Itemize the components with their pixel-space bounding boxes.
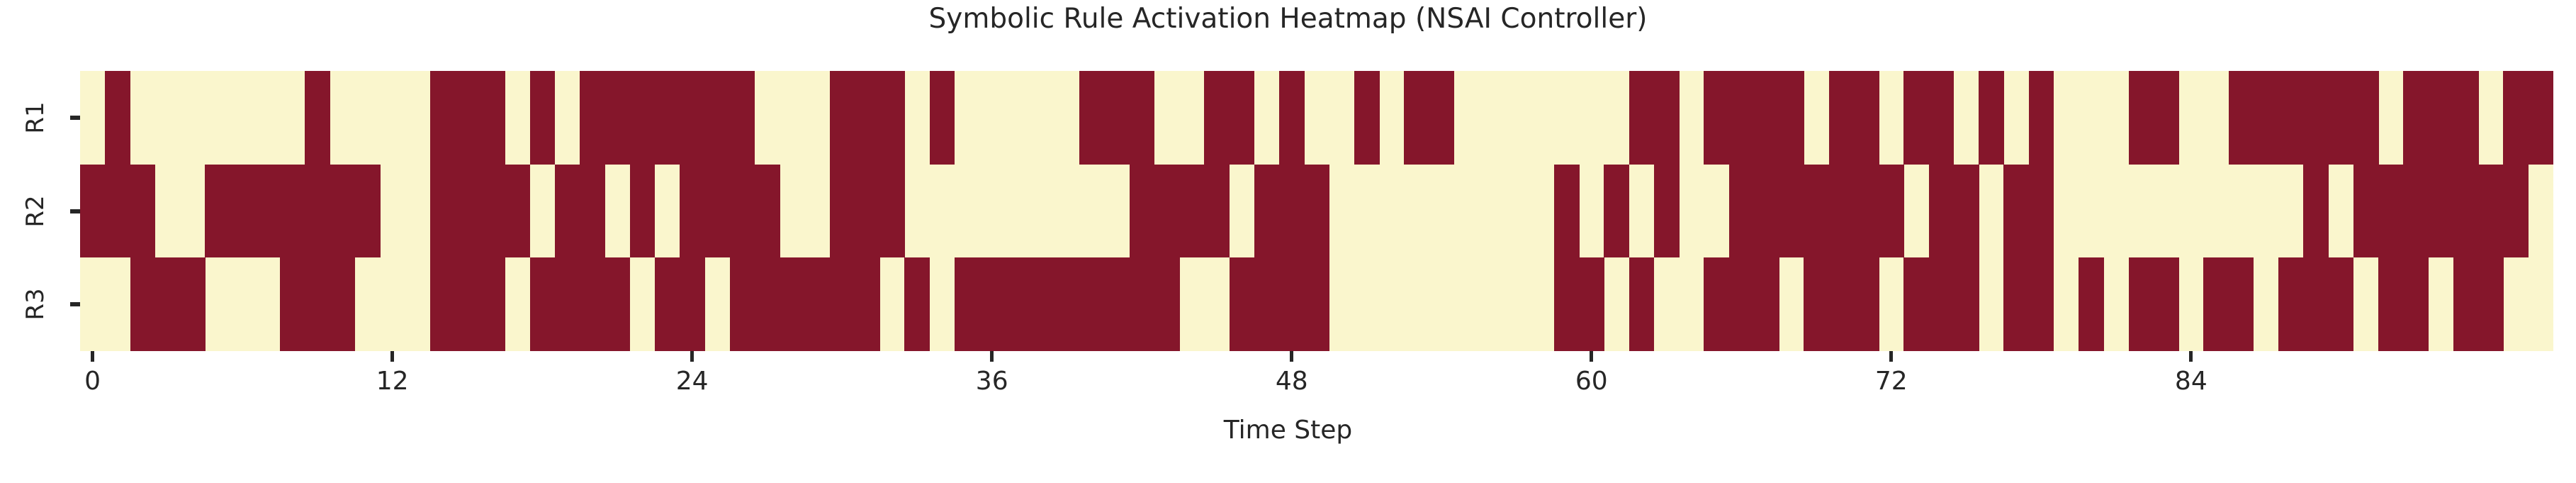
heatmap-cell <box>130 257 206 351</box>
x-tick-mark <box>1290 351 1293 362</box>
heatmap-cell <box>904 257 930 351</box>
x-tick-label-0: 0 <box>22 366 164 397</box>
y-tick-mark <box>70 209 80 213</box>
heatmap-cell <box>1804 257 1879 351</box>
heatmap-cell <box>530 257 631 351</box>
y-tick-mark <box>70 116 80 120</box>
heatmap-cell <box>555 165 605 258</box>
heatmap-cell <box>1204 71 1254 165</box>
heatmap-cell <box>2403 71 2478 165</box>
heatmap-cell <box>2203 257 2254 351</box>
heatmap-cell <box>1079 71 1154 165</box>
heatmap-cell <box>280 257 355 351</box>
heatmap-row-r1 <box>80 71 2553 165</box>
heatmap-cell <box>1230 257 1330 351</box>
heatmap-cell <box>630 165 656 258</box>
heatmap-cell <box>1254 165 1329 258</box>
heatmap-cell <box>430 257 505 351</box>
heatmap-cell <box>2229 71 2379 165</box>
heatmap-cell <box>205 165 380 258</box>
chart-title: Symbolic Rule Activation Heatmap (NSAI C… <box>0 3 2576 35</box>
heatmap-cell <box>1903 257 1979 351</box>
heatmap-cell <box>1704 71 1804 165</box>
figure-canvas: Symbolic Rule Activation Heatmap (NSAI C… <box>0 0 2576 483</box>
heatmap-row-r3 <box>80 257 2553 351</box>
heatmap-cell <box>1354 71 1380 165</box>
x-tick-label-24: 24 <box>621 366 763 397</box>
x-axis-title: Time Step <box>0 415 2576 446</box>
heatmap-cell <box>430 71 505 165</box>
heatmap-cell <box>2129 71 2179 165</box>
y-tick-label-r2: R2 <box>20 183 51 240</box>
heatmap-cell <box>1554 257 1604 351</box>
x-tick-label-12: 12 <box>322 366 463 397</box>
y-tick-label-r3: R3 <box>20 276 51 333</box>
heatmap-cell <box>430 165 531 258</box>
x-tick-label-84: 84 <box>2120 366 2262 397</box>
x-tick-mark <box>990 351 994 362</box>
x-tick-label-48: 48 <box>1221 366 1363 397</box>
heatmap-cell <box>830 165 905 258</box>
heatmap-cell <box>1554 165 1580 258</box>
heatmap-cell <box>1654 165 1680 258</box>
heatmap-cell <box>1903 71 1954 165</box>
heatmap-cell <box>2029 71 2054 165</box>
heatmap-cell <box>1130 165 1230 258</box>
heatmap-cell <box>2353 165 2529 258</box>
x-tick-label-60: 60 <box>1521 366 1663 397</box>
x-tick-mark <box>1590 351 1593 362</box>
heatmap-cell <box>2378 257 2429 351</box>
heatmap-cell <box>1279 71 1305 165</box>
heatmap-cell <box>2003 257 2054 351</box>
heatmap-cell <box>1929 165 1979 258</box>
x-tick-mark <box>91 351 94 362</box>
heatmap-cell <box>2303 165 2329 258</box>
heatmap-cell <box>730 257 880 351</box>
x-tick-label-72: 72 <box>1821 366 1962 397</box>
heatmap-cell <box>2503 71 2553 165</box>
heatmap-cell <box>680 165 780 258</box>
heatmap-cell <box>1629 257 1655 351</box>
heatmap-cell <box>930 71 955 165</box>
heatmap-cell <box>305 71 330 165</box>
heatmap-cell <box>2278 257 2353 351</box>
heatmap-cell <box>2453 257 2504 351</box>
heatmap-plot-area <box>80 71 2553 351</box>
x-tick-mark <box>390 351 394 362</box>
heatmap-cell <box>530 71 556 165</box>
heatmap-cell <box>105 71 130 165</box>
heatmap-cell <box>2079 257 2104 351</box>
heatmap-cell <box>2003 165 2054 258</box>
y-tick-mark <box>70 302 80 306</box>
heatmap-cell <box>655 257 705 351</box>
y-tick-label-r1: R1 <box>20 89 51 146</box>
x-tick-mark <box>2189 351 2193 362</box>
heatmap-cell <box>1979 71 2004 165</box>
heatmap-cell <box>1604 165 1629 258</box>
heatmap-cell <box>80 165 155 258</box>
heatmap-cell <box>1704 257 1779 351</box>
x-tick-mark <box>1889 351 1893 362</box>
heatmap-cell <box>2129 257 2179 351</box>
heatmap-cell <box>955 257 1180 351</box>
heatmap-cell <box>1404 71 1454 165</box>
heatmap-cell <box>1729 165 1904 258</box>
x-tick-mark <box>690 351 694 362</box>
heatmap-row-r2 <box>80 165 2553 258</box>
heatmap-cell <box>830 71 905 165</box>
heatmap-cell <box>1829 71 1879 165</box>
heatmap-cell <box>1629 71 1680 165</box>
x-tick-label-36: 36 <box>921 366 1063 397</box>
heatmap-cell <box>580 71 755 165</box>
